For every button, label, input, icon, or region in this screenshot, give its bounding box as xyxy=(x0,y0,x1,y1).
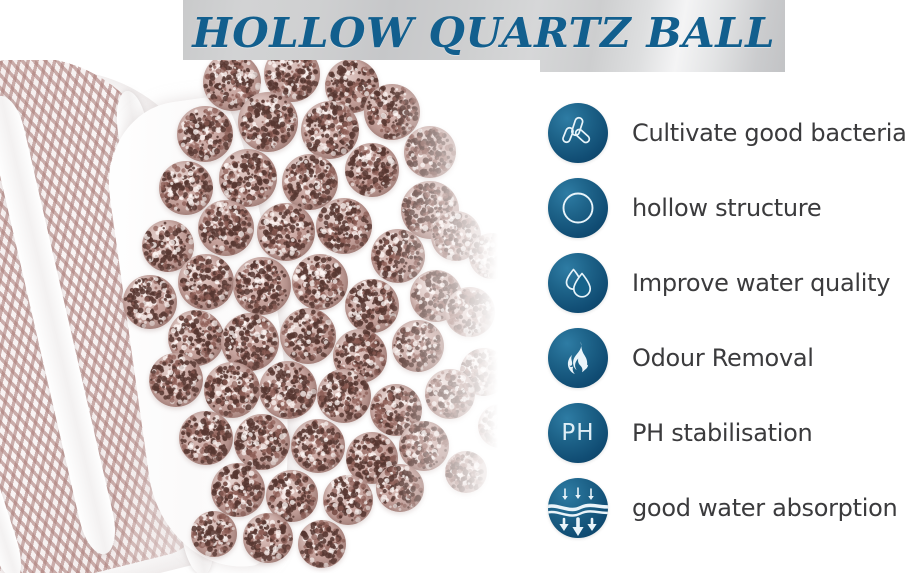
quartz-ball xyxy=(233,257,291,315)
water-drops-icon xyxy=(548,253,608,313)
ring-icon xyxy=(548,178,608,238)
quartz-ball xyxy=(323,475,373,525)
feature-item-odour-removal: Odour Removal xyxy=(548,328,922,388)
quartz-ball xyxy=(234,414,290,470)
infographic-canvas: HOLLOW QUARTZ BALL Cultivate good bacter… xyxy=(0,0,922,573)
feature-label: Odour Removal xyxy=(632,344,814,372)
quartz-ball xyxy=(292,254,348,310)
quartz-ball xyxy=(177,106,233,162)
quartz-ball xyxy=(317,369,371,423)
feature-label: Cultivate good bacteria xyxy=(632,119,907,147)
feature-label: hollow structure xyxy=(632,194,821,222)
quartz-ball xyxy=(123,275,177,329)
quartz-ball xyxy=(211,463,265,517)
quartz-ball xyxy=(243,513,293,563)
feature-item-good-water-absorption: good water absorption xyxy=(548,478,922,538)
feature-item-improve-water-quality: Improve water quality xyxy=(548,253,922,313)
quartz-ball xyxy=(178,254,234,310)
feature-label: good water absorption xyxy=(632,494,897,522)
product-photo xyxy=(0,60,540,573)
ph-icon-text: PH xyxy=(561,422,594,445)
quartz-ball xyxy=(219,149,277,207)
feature-list: Cultivate good bacteria hollow structure… xyxy=(548,103,922,538)
feature-item-cultivate-good-bacteria: Cultivate good bacteria xyxy=(548,103,922,163)
ph-icon: PH xyxy=(548,403,608,463)
feature-label: PH stabilisation xyxy=(632,419,812,447)
quartz-ball xyxy=(204,362,260,418)
flame-icon xyxy=(548,328,608,388)
quartz-ball xyxy=(257,203,315,261)
quartz-ball xyxy=(259,361,317,419)
quartz-ball xyxy=(298,520,346,568)
photo-edge-fade xyxy=(390,60,540,573)
feature-item-ph-stabilisation: PH PH stabilisation xyxy=(548,403,922,463)
quartz-ball xyxy=(291,419,345,473)
quartz-ball xyxy=(179,411,233,465)
feature-item-hollow-structure: hollow structure xyxy=(548,178,922,238)
quartz-ball xyxy=(280,308,336,364)
quartz-ball xyxy=(191,511,237,557)
page-title: HOLLOW QUARTZ BALL xyxy=(193,9,776,57)
quartz-ball xyxy=(159,161,213,215)
feature-label: Improve water quality xyxy=(632,269,890,297)
quartz-ball xyxy=(301,101,359,159)
quartz-ball xyxy=(238,92,298,152)
quartz-ball xyxy=(149,353,203,407)
bacteria-icon xyxy=(548,103,608,163)
water-absorption-icon xyxy=(548,478,608,538)
quartz-ball xyxy=(316,198,372,254)
quartz-ball xyxy=(198,200,254,256)
